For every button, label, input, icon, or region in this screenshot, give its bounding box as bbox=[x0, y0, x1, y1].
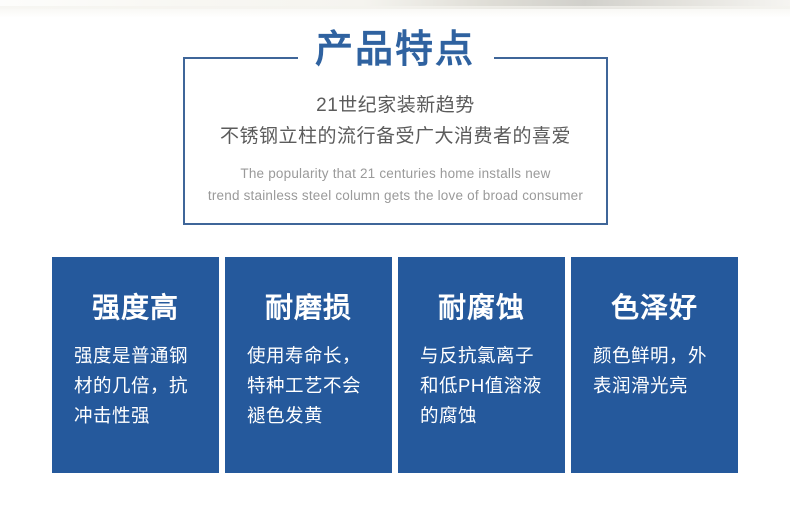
feature-card-title: 耐腐蚀 bbox=[420, 291, 549, 325]
header-english-line-1: The popularity that 21 centuries home in… bbox=[183, 163, 608, 185]
page-title: 产品特点 bbox=[0, 28, 790, 72]
header-subtitle-line-2: 不锈钢立柱的流行备受广大消费者的喜爱 bbox=[183, 121, 608, 152]
header-subtitle: 21世纪家装新趋势 不锈钢立柱的流行备受广大消费者的喜爱 bbox=[183, 90, 608, 152]
feature-card-corrosion-resistance: 耐腐蚀 与反抗氯离子和低PH值溶液的腐蚀 bbox=[398, 257, 565, 473]
top-edge-fade bbox=[0, 6, 790, 18]
product-features-banner: 产品特点 21世纪家装新趋势 不锈钢立柱的流行备受广大消费者的喜爱 The po… bbox=[0, 0, 790, 523]
feature-card-body: 使用寿命长，特种工艺不会褪色发黄 bbox=[247, 341, 376, 431]
header-english-line-2: trend stainless steel column gets the lo… bbox=[183, 185, 608, 207]
header-english-caption: The popularity that 21 centuries home in… bbox=[183, 163, 608, 207]
feature-card-strength: 强度高 强度是普通钢材的几倍，抗冲击性强 bbox=[52, 257, 219, 473]
feature-card-list: 强度高 强度是普通钢材的几倍，抗冲击性强 耐磨损 使用寿命长，特种工艺不会褪色发… bbox=[52, 257, 738, 473]
feature-card-title: 色泽好 bbox=[593, 291, 722, 325]
feature-card-wear-resistance: 耐磨损 使用寿命长，特种工艺不会褪色发黄 bbox=[225, 257, 392, 473]
feature-card-body: 颜色鲜明，外表润滑光亮 bbox=[593, 341, 722, 401]
feature-card-color-quality: 色泽好 颜色鲜明，外表润滑光亮 bbox=[571, 257, 738, 473]
feature-card-title: 强度高 bbox=[74, 291, 203, 325]
feature-card-body: 与反抗氯离子和低PH值溶液的腐蚀 bbox=[420, 341, 549, 431]
feature-card-title: 耐磨损 bbox=[247, 291, 376, 325]
header-subtitle-line-1: 21世纪家装新趋势 bbox=[316, 95, 475, 116]
feature-card-body: 强度是普通钢材的几倍，抗冲击性强 bbox=[74, 341, 203, 431]
